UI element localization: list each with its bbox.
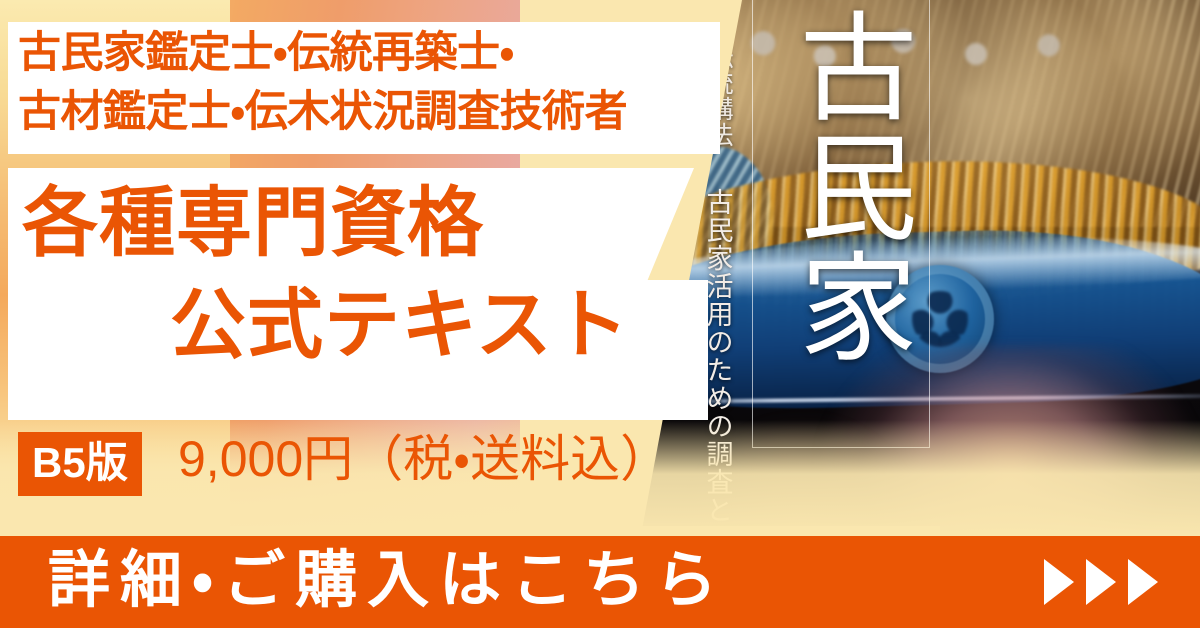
headline-line-2: 古材鑑定士・伝木状況調査技術者 bbox=[18, 83, 718, 142]
cta-bar[interactable]: 詳細・ご購入はこちら bbox=[0, 536, 1200, 628]
chevron-right-icon bbox=[1086, 559, 1116, 605]
cta-arrows bbox=[1044, 559, 1158, 605]
headline-block: 古民家鑑定士・伝統再築士・ 古材鑑定士・伝木状況調査技術者 bbox=[18, 24, 718, 142]
price-text: 9,000円（税・送料込） bbox=[178, 434, 670, 484]
cover-main-title: 古民家 bbox=[768, 6, 916, 366]
format-badge: B5版 bbox=[18, 432, 142, 496]
chevron-right-icon bbox=[1044, 559, 1074, 605]
cta-top-sliver bbox=[0, 526, 940, 536]
headline-line-1: 古民家鑑定士・伝統再築士・ bbox=[18, 24, 718, 83]
cta-label: 詳細・ご購入はこちら bbox=[48, 550, 727, 612]
chevron-right-icon bbox=[1128, 559, 1158, 605]
title-line-1: 各種専門資格 bbox=[22, 186, 484, 262]
title-line-2: 公式テキスト bbox=[170, 288, 630, 364]
promo-banner: 伝統構法 古民家活用のための調査と再生の 古民家 古民家鑑定士・伝統再築士・ 古… bbox=[0, 0, 1200, 628]
